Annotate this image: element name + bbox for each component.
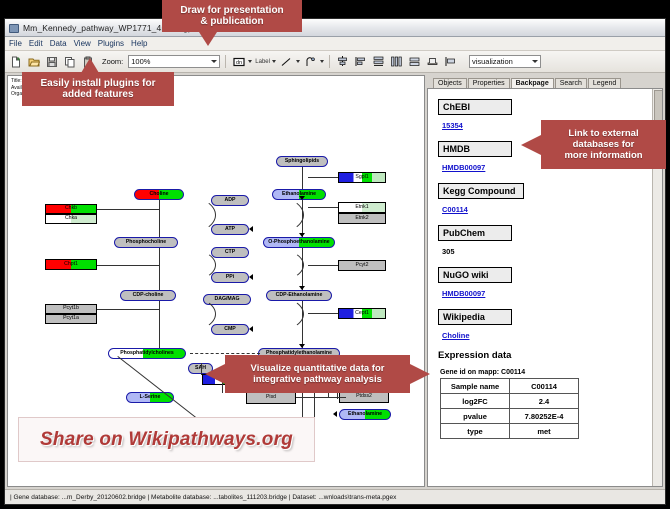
open-folder-icon[interactable] xyxy=(26,54,41,69)
table-row: Sample nameC00114 xyxy=(441,379,579,394)
database-name: Kegg Compound xyxy=(438,183,524,199)
zoom-value: 100% xyxy=(131,57,150,66)
node-label: ADP xyxy=(225,198,236,203)
expression-value: C00114 xyxy=(510,379,579,394)
expression-key: log2FC xyxy=(441,394,510,409)
toolbar-separator xyxy=(329,55,330,68)
callout-external-links: Link to externaldatabases formore inform… xyxy=(541,120,666,169)
pathway-curve xyxy=(244,196,304,234)
database-link[interactable]: 15354 xyxy=(442,121,463,130)
node-label: Phosphocholine xyxy=(126,240,166,245)
chevron-down-icon[interactable] xyxy=(296,60,300,63)
pathway-edge xyxy=(302,167,303,189)
database-entry-wikipedia: Wikipedia Choline xyxy=(438,307,662,343)
same-width-icon[interactable] xyxy=(407,54,422,69)
pathway-edge xyxy=(308,265,338,266)
chevron-down-icon[interactable] xyxy=(272,60,276,63)
node-label: Cept1 xyxy=(355,311,369,316)
database-name: NuGO wiki xyxy=(438,267,512,283)
callout-share-wikipathways: Share on Wikipathways.org xyxy=(18,417,315,462)
pathway-edge xyxy=(308,313,338,314)
protein-node-1[interactable]: Etnk1 xyxy=(338,202,386,213)
arrow-head xyxy=(299,286,305,290)
callout-arrow-left xyxy=(205,364,225,384)
chevron-down-icon xyxy=(211,60,217,63)
callout-arrow-down xyxy=(199,32,217,46)
database-name: HMDB xyxy=(438,141,512,157)
metabolite-node-6[interactable]: Phosphocholine xyxy=(114,237,178,248)
title-bar: Mm_Kennedy_pathway_WP1771_45176.gpml xyxy=(5,19,665,37)
protein-node-9[interactable]: Pcyt1a xyxy=(45,314,97,324)
node-label: Etnk2 xyxy=(355,216,368,221)
node-label: Ptdss2 xyxy=(356,394,372,399)
callout-install-plugins: Easily install plugins foradded features xyxy=(22,72,174,106)
menu-item-file[interactable]: File xyxy=(9,39,22,48)
arrow-head xyxy=(299,233,305,237)
status-bar: | Gene database: ...m_Derby_20120602.bri… xyxy=(5,489,665,504)
pathway-edge xyxy=(201,363,202,375)
status-text: | Gene database: ...m_Derby_20120602.bri… xyxy=(10,494,396,501)
expression-value: 7.80252E-4 xyxy=(510,409,579,424)
pathway-edge-dashed xyxy=(190,353,260,354)
metabolite-node-2[interactable]: O-Phosphoethanolamine xyxy=(263,237,335,248)
database-name: ChEBI xyxy=(438,99,512,115)
arrow-head xyxy=(333,411,337,417)
callout-visualize-data: Visualize quantitative data forintegrati… xyxy=(225,355,410,393)
node-label: CMP xyxy=(224,327,236,332)
save-icon[interactable] xyxy=(44,54,59,69)
node-label: Pcyt2 xyxy=(356,263,369,268)
database-link[interactable]: HMDB00097 xyxy=(442,289,485,298)
callout-arrow-right xyxy=(410,364,430,384)
pathway-edge xyxy=(97,209,159,210)
database-value: 305 xyxy=(442,247,455,256)
align-center-icon[interactable] xyxy=(335,54,350,69)
expression-table: Sample nameC00114log2FC2.4pvalue7.80252E… xyxy=(440,378,579,439)
label-tool-text: Label xyxy=(255,59,270,65)
receptor-tool[interactable] xyxy=(303,54,324,69)
database-link[interactable]: Choline xyxy=(442,331,470,340)
node-label: Ethanolamine xyxy=(348,412,382,417)
database-entry-kegg: Kegg Compound C00114 xyxy=(438,181,662,217)
receptor-icon[interactable] xyxy=(303,54,318,69)
node-label: Pisd xyxy=(266,395,276,400)
protein-node-5[interactable]: Chkb xyxy=(45,204,97,214)
table-row: typemet xyxy=(441,424,579,439)
zoom-combobox[interactable]: 100% xyxy=(128,55,220,68)
tab-legend[interactable]: Legend xyxy=(588,78,621,89)
line-tool[interactable] xyxy=(279,54,300,69)
label-tool[interactable]: Label xyxy=(255,59,276,65)
side-panel-tabs: Objects Properties Backpage Search Legen… xyxy=(427,75,663,88)
expression-value: 2.4 xyxy=(510,394,579,409)
protein-node-2[interactable]: Etnk2 xyxy=(338,213,386,224)
protein-node-8[interactable]: Pcyt1b xyxy=(45,304,97,314)
zoom-label: Zoom: xyxy=(102,57,123,66)
pathway-edge xyxy=(296,397,346,398)
gene-id-label: Gene id on mapp: C00114 xyxy=(440,369,662,376)
node-label: ATP xyxy=(225,227,235,232)
pathway-curve xyxy=(244,296,304,332)
metabolite-node-12[interactable]: PPi xyxy=(211,272,249,283)
protein-node-6[interactable]: Chka xyxy=(45,214,97,224)
callout-draw-for-publication: Draw for presentation& publication xyxy=(162,0,302,32)
toolbar-separator xyxy=(225,55,226,68)
visualization-value: visualization xyxy=(472,57,513,66)
expression-key: type xyxy=(441,424,510,439)
new-file-icon[interactable] xyxy=(8,54,23,69)
svg-text:dn: dn xyxy=(236,60,242,66)
chevron-down-icon xyxy=(532,60,538,63)
metabolite-node-0[interactable]: Sphingolipids xyxy=(276,156,328,167)
node-label: Pcyt1b xyxy=(63,306,79,311)
expression-value: met xyxy=(510,424,579,439)
node-label: Choline xyxy=(149,192,168,197)
database-link[interactable]: HMDB00097 xyxy=(442,163,485,172)
align-left-icon[interactable] xyxy=(353,54,368,69)
node-label: CDP-choline xyxy=(133,293,164,298)
toolbar: Zoom: 100% dn Label xyxy=(5,51,665,73)
menu-item-help[interactable]: Help xyxy=(131,39,147,48)
metabolite-node-11[interactable]: CTP xyxy=(211,247,249,258)
tab-search[interactable]: Search xyxy=(555,78,587,89)
node-label: O-Phosphoethanolamine xyxy=(268,240,329,245)
node-label: Sgpl1 xyxy=(355,175,368,180)
pathway-curve xyxy=(156,296,216,332)
protein-node-3[interactable]: Pcyt2 xyxy=(338,260,386,271)
node-label: Chkb xyxy=(65,206,77,211)
callout-arrow-up xyxy=(81,58,99,73)
distribute-horizontal-icon[interactable] xyxy=(389,54,404,69)
arrow-head xyxy=(299,196,305,200)
database-name: Wikipedia xyxy=(438,309,512,325)
menu-bar: File Edit Data View Plugins Help xyxy=(5,37,665,51)
pathway-edge xyxy=(97,309,159,310)
app-icon xyxy=(8,22,19,33)
protein-node-0[interactable]: Sgpl1 xyxy=(338,172,386,183)
datanode-icon[interactable]: dn xyxy=(231,54,246,69)
pathway-curve xyxy=(244,248,304,282)
metabolite-node-9[interactable]: ADP xyxy=(211,195,249,206)
protein-node-11[interactable]: Pisd xyxy=(246,392,296,404)
node-label: Chka xyxy=(65,216,77,221)
callout-arrow-left xyxy=(521,135,541,155)
tab-properties[interactable]: Properties xyxy=(468,78,510,89)
chevron-down-icon[interactable] xyxy=(248,60,252,63)
protein-node-4[interactable]: Cept1 xyxy=(338,308,386,319)
tab-objects[interactable]: Objects xyxy=(433,78,467,89)
pathway-curve xyxy=(156,196,216,234)
metabolite-node-14[interactable]: CMP xyxy=(211,324,249,335)
table-row: pvalue7.80252E-4 xyxy=(441,409,579,424)
screenshot-root: Mm_Kennedy_pathway_WP1771_45176.gpml Fil… xyxy=(0,0,670,509)
bring-to-front-icon[interactable] xyxy=(443,54,458,69)
database-entry-pubchem: PubChem 305 xyxy=(438,223,662,259)
node-label: DAG/MAG xyxy=(214,297,239,302)
metabolite-node-10[interactable]: ATP xyxy=(211,224,249,235)
menu-item-plugins[interactable]: Plugins xyxy=(98,39,124,48)
database-name: PubChem xyxy=(438,225,512,241)
node-label: CTP xyxy=(225,250,235,255)
node-label: Chpt1 xyxy=(64,262,78,267)
distribute-vertical-icon[interactable] xyxy=(371,54,386,69)
table-row: log2FC2.4 xyxy=(441,394,579,409)
metabolite-node-19[interactable]: Ethanolamine xyxy=(339,409,391,420)
node-label: Phosphatidylcholines xyxy=(120,351,174,356)
pathway-curve xyxy=(156,248,216,282)
menu-item-view[interactable]: View xyxy=(74,39,91,48)
pathway-edge xyxy=(308,207,338,208)
chevron-down-icon[interactable] xyxy=(320,60,324,63)
expression-data-heading: Expression data xyxy=(438,350,662,361)
share-text: Share on Wikipathways.org xyxy=(40,429,293,451)
database-link[interactable]: C00114 xyxy=(442,205,468,214)
expression-key: Sample name xyxy=(441,379,510,394)
protein-node-7[interactable]: Chpt1 xyxy=(45,259,97,270)
node-label: Pcyt1a xyxy=(63,316,79,321)
node-label: PPi xyxy=(226,275,234,280)
node-label: Etnk1 xyxy=(355,205,368,210)
expression-key: pvalue xyxy=(441,409,510,424)
copy-icon[interactable] xyxy=(62,54,77,69)
visualization-combobox[interactable]: visualization xyxy=(469,55,541,68)
same-height-icon[interactable] xyxy=(425,54,440,69)
menu-item-data[interactable]: Data xyxy=(50,39,67,48)
arrow-head xyxy=(299,344,305,348)
line-icon[interactable] xyxy=(279,54,294,69)
database-entry-nugo: NuGO wiki HMDB00097 xyxy=(438,265,662,301)
node-label: L-Serine xyxy=(140,395,161,400)
menu-item-edit[interactable]: Edit xyxy=(29,39,43,48)
datanode-tool[interactable]: dn xyxy=(231,54,252,69)
pathway-edge xyxy=(97,265,159,266)
pathway-edge xyxy=(308,177,338,178)
node-label: Sphingolipids xyxy=(285,159,319,164)
